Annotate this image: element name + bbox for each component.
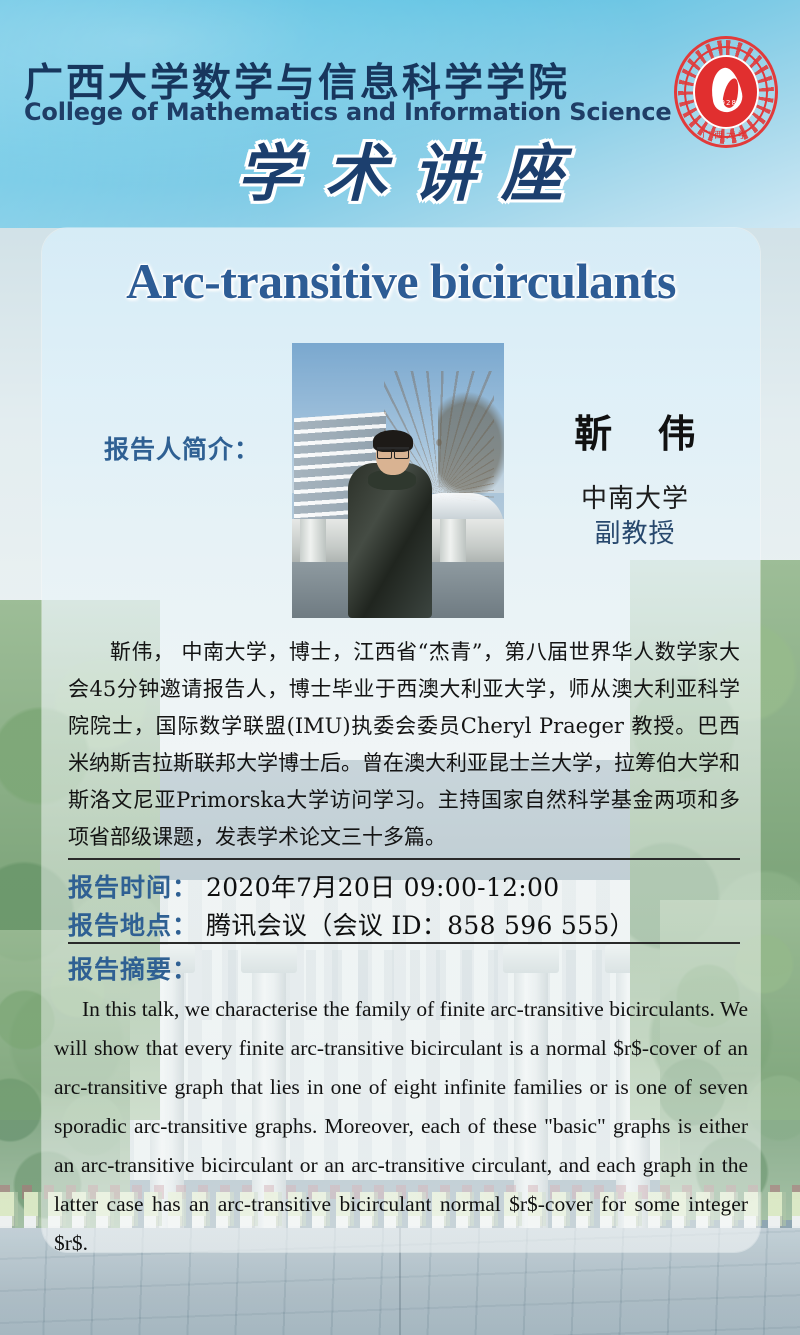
speaker-rank: 副教授 bbox=[520, 513, 750, 550]
speaker-bio-label: 报告人简介： bbox=[104, 430, 260, 466]
seal-year-text: 1928 bbox=[715, 99, 737, 107]
abstract-text: In this talk, we characterise the family… bbox=[54, 990, 748, 1252]
time-label: 报告时间： bbox=[68, 868, 198, 904]
place-label: 报告地点： bbox=[68, 906, 198, 942]
seal-university-text: 广西大学 bbox=[702, 128, 750, 141]
photo-tree-right bbox=[438, 391, 504, 501]
time-value: 2020年7月20日 09:00-12:00 bbox=[206, 868, 559, 904]
place-value: 腾讯会议（会议 ID：858 596 555） bbox=[206, 906, 635, 942]
university-seal-icon: 1928 广西大学 bbox=[674, 36, 778, 148]
speaker-organization: 中南大学 bbox=[520, 478, 750, 515]
seal-disc: 1928 bbox=[693, 55, 759, 129]
speaker-bio-text: 靳伟， 中南大学，博士，江西省“杰青”，第八届世界华人数学家大会45分钟邀请报告… bbox=[68, 634, 740, 856]
meta-row-time: 报告时间： 2020年7月20日 09:00-12:00 bbox=[68, 868, 748, 904]
lecture-poster: 广西大学数学与信息科学学院 College of Mathematics and… bbox=[0, 0, 800, 1335]
divider-below-meta bbox=[68, 942, 740, 944]
speaker-photo bbox=[292, 343, 504, 618]
photo-person-glasses-icon bbox=[377, 447, 409, 457]
page-title: Arc-transitive bicirculants bbox=[42, 252, 760, 310]
speaker-name: 靳 伟 bbox=[520, 403, 750, 458]
college-name-english: College of Mathematics and Information S… bbox=[24, 98, 671, 126]
meta-row-place: 报告地点： 腾讯会议（会议 ID：858 596 555） bbox=[68, 906, 748, 942]
divider-above-meta bbox=[68, 858, 740, 860]
content-card: Arc-transitive bicirculants 报告人简介： 靳 伟 中… bbox=[42, 228, 760, 1252]
abstract-label: 报告摘要： bbox=[68, 950, 198, 986]
